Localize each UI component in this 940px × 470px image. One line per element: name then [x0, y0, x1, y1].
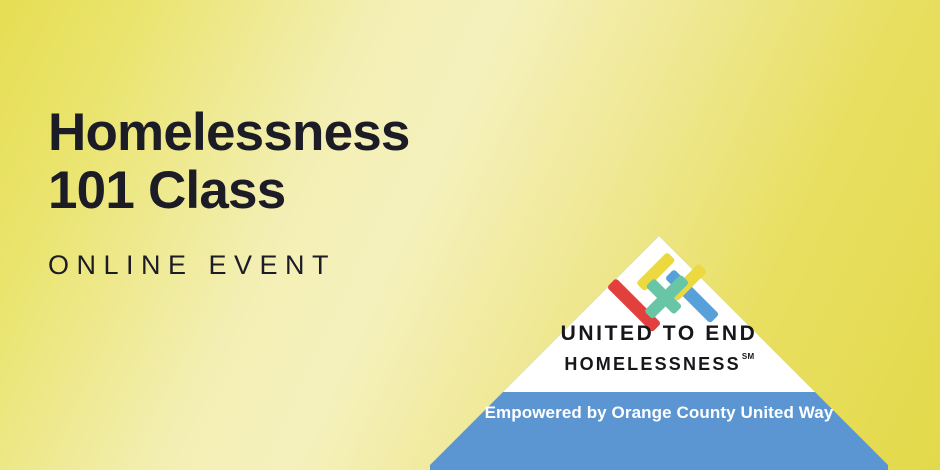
page-title: Homelessness 101 Class: [48, 104, 478, 220]
event-subtitle: ONLINE EVENT: [48, 220, 478, 280]
organization-logo-lockup: UNITED TO END HOMELESSNESSSM Empowered b…: [430, 236, 888, 470]
event-text-block: Homelessness 101 Class ONLINE EVENT: [48, 104, 478, 280]
event-banner: Homelessness 101 Class ONLINE EVENT: [0, 0, 940, 470]
logo-shapes: [430, 236, 888, 470]
white-triangle: [503, 236, 815, 392]
